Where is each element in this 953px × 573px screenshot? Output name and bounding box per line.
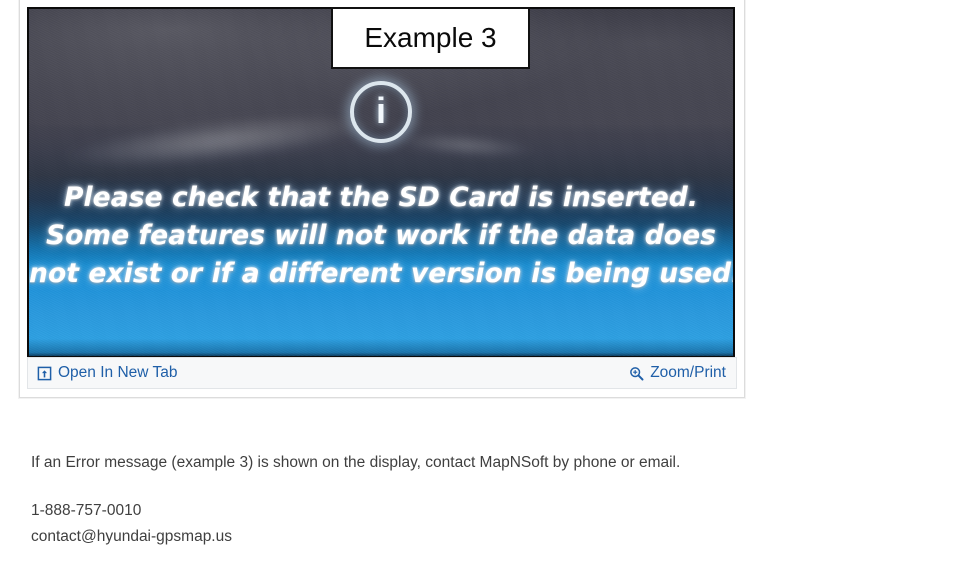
- device-error-line-1: Please check that the SD Card is inserte…: [29, 179, 733, 217]
- magnifier-plus-icon: [629, 366, 644, 381]
- info-icon-glyph: i: [376, 93, 386, 129]
- device-error-message: Please check that the SD Card is inserte…: [29, 179, 733, 293]
- example-callout-label: Example 3: [331, 7, 530, 69]
- contact-phone: 1-888-757-0010: [31, 498, 891, 524]
- example-callout-text: Example 3: [364, 24, 496, 52]
- open-in-new-tab-icon: [37, 366, 52, 381]
- open-in-new-tab-button[interactable]: Open In New Tab: [37, 365, 177, 381]
- image-viewer-toolbar: Open In New Tab Zoom/Print: [27, 357, 737, 389]
- info-circle-icon: i: [350, 81, 412, 143]
- contact-email: contact@hyundai-gpsmap.us: [31, 524, 891, 550]
- instruction-paragraph: If an Error message (example 3) is shown…: [31, 450, 891, 476]
- zoom-print-label: Zoom/Print: [650, 365, 726, 381]
- article-body: If an Error message (example 3) is shown…: [31, 450, 891, 550]
- image-viewer-panel: i Please check that the SD Card is inser…: [19, 0, 745, 398]
- device-error-line-2: Some features will not work if the data …: [29, 217, 733, 255]
- device-error-line-3: not exist or if a different version is b…: [29, 255, 733, 293]
- zoom-print-button[interactable]: Zoom/Print: [629, 365, 726, 381]
- open-in-new-tab-label: Open In New Tab: [58, 365, 177, 381]
